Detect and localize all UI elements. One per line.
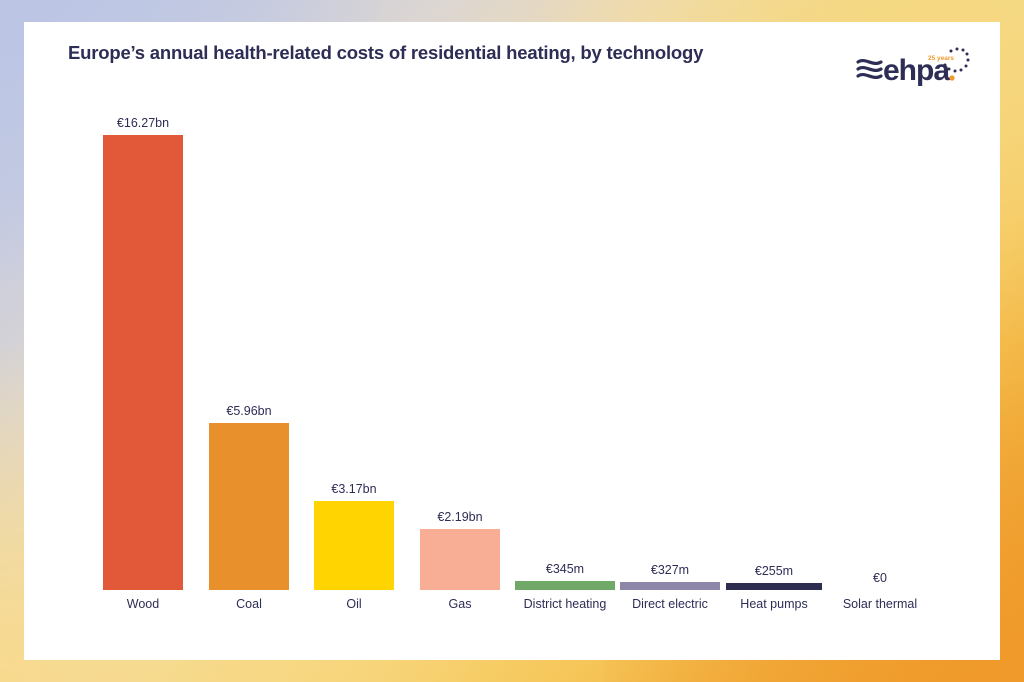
bar-rect[interactable]	[103, 135, 183, 590]
bar-group-wood[interactable]: €16.27bn Wood	[103, 117, 183, 610]
bar-chart: €16.27bn Wood €5.96bn Coal €3.17bn Oil €…	[24, 22, 1000, 660]
bar-group-oil[interactable]: €3.17bn Oil	[314, 483, 394, 610]
bar-category-label: Direct electric	[632, 598, 708, 611]
bar-group-gas[interactable]: €2.19bn Gas	[420, 511, 500, 610]
bar-value: €255m	[755, 565, 793, 578]
bar-value: €0	[873, 572, 887, 585]
bar-category-label: Solar thermal	[843, 598, 917, 611]
bar-value: €345m	[546, 563, 584, 576]
bar-group-coal[interactable]: €5.96bn Coal	[209, 405, 289, 610]
bar-category-label: Gas	[449, 598, 472, 611]
bar-category-label: District heating	[524, 598, 607, 611]
bar-category-label: Heat pumps	[740, 598, 807, 611]
bar-rect[interactable]	[620, 582, 720, 590]
bar-rect[interactable]	[726, 583, 822, 590]
bar-category-label: Wood	[127, 598, 159, 611]
bar-rect[interactable]	[314, 501, 394, 590]
bar-value: €16.27bn	[117, 117, 169, 130]
bar-value: €5.96bn	[226, 405, 271, 418]
bar-category-label: Oil	[346, 598, 361, 611]
bar-rect[interactable]	[420, 529, 500, 590]
bar-group-heat-pumps[interactable]: €255m Heat pumps	[726, 565, 822, 610]
bar-group-district-heating[interactable]: €345m District heating	[515, 563, 615, 610]
bar-category-label: Coal	[236, 598, 262, 611]
chart-card: Europe’s annual health-related costs of …	[24, 22, 1000, 660]
bar-value: €2.19bn	[437, 511, 482, 524]
bar-group-direct-electric[interactable]: €327m Direct electric	[620, 564, 720, 610]
bar-rect[interactable]	[209, 423, 289, 590]
bar-value: €3.17bn	[331, 483, 376, 496]
bar-rect[interactable]	[515, 581, 615, 590]
bar-group-solar-thermal[interactable]: €0 Solar thermal	[830, 572, 930, 610]
bar-value: €327m	[651, 564, 689, 577]
